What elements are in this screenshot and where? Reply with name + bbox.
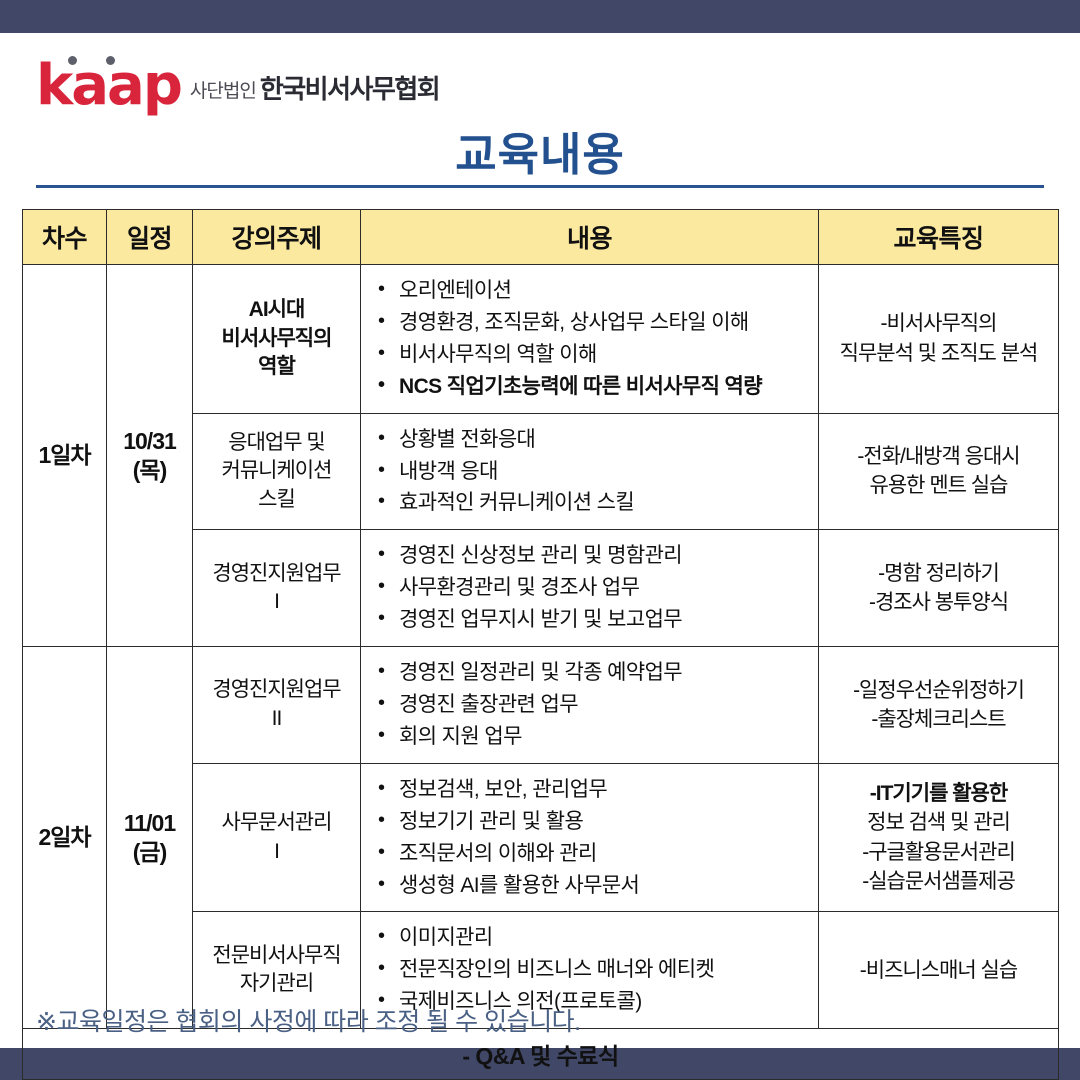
content-bullet-item: 정보기기 관리 및 활용 bbox=[397, 806, 812, 838]
content-bullet-item: 사무환경관리 및 경조사 업무 bbox=[397, 572, 812, 604]
cell-content: 상황별 전화응대내방객 응대효과적인 커뮤니케이션 스킬 bbox=[361, 413, 819, 530]
cell-content: 경영진 일정관리 및 각종 예약업무경영진 출장관련 업무회의 지원 업무 bbox=[361, 647, 819, 764]
cell-feature: -비즈니스매너 실습 bbox=[819, 912, 1059, 1029]
cell-topic: 응대업무 및커뮤니케이션스킬 bbox=[193, 413, 361, 530]
content-bullet-item: 정보검색, 보안, 관리업무 bbox=[397, 774, 812, 806]
content-bullet-item: 생성형 AI를 활용한 사무문서 bbox=[397, 870, 812, 902]
content-bullet-list: 경영진 일정관리 및 각종 예약업무경영진 출장관련 업무회의 지원 업무 bbox=[371, 657, 812, 753]
feature-line: -IT기기를 활용한 bbox=[823, 779, 1054, 808]
feature-line: -전화/내방객 응대시 bbox=[823, 442, 1054, 471]
feature-line: -비서사무직의 bbox=[823, 309, 1054, 338]
footnote-disclaimer: ※교육일정은 협회의 사정에 따라 조정 될 수 있습니다. bbox=[36, 1002, 581, 1038]
column-header-date: 일정 bbox=[107, 210, 193, 265]
feature-line: -경조사 봉투양식 bbox=[823, 588, 1054, 617]
feature-line: -구글활용문서관리 bbox=[823, 838, 1054, 867]
cell-date: 11/01(금) bbox=[107, 647, 193, 1029]
content-bullet-item: 오리엔테이션 bbox=[397, 275, 812, 307]
logo-prefix-label: 사단법인 bbox=[190, 76, 256, 103]
cell-feature: -비서사무직의직무분석 및 조직도 분석 bbox=[819, 265, 1059, 414]
page-title: 교육내용 bbox=[0, 118, 1080, 183]
column-header-feature: 교육특징 bbox=[819, 210, 1059, 265]
content-bullet-list: 오리엔테이션경영환경, 조직문화, 상사업무 스타일 이해비서사무직의 역할 이… bbox=[371, 275, 812, 403]
curriculum-table-wrapper: 차수 일정 강의주제 내용 교육특징 1일차10/31(목)AI시대비서사무직의… bbox=[22, 209, 1058, 1080]
content-bullet-item: NCS 직업기초능력에 따른 비서사무직 역량 bbox=[397, 371, 812, 403]
cell-content: 오리엔테이션경영환경, 조직문화, 상사업무 스타일 이해비서사무직의 역할 이… bbox=[361, 265, 819, 414]
slide-page: kaap 사단법인 한국비서사무협회 교육내용 차수 일정 강의주제 내용 교육… bbox=[0, 0, 1080, 1080]
cell-feature: -일정우선순위정하기-출장체크리스트 bbox=[819, 647, 1059, 764]
content-bullet-list: 상황별 전화응대내방객 응대효과적인 커뮤니케이션 스킬 bbox=[371, 424, 812, 520]
content-bullet-item: 내방객 응대 bbox=[397, 456, 812, 488]
table-header: 차수 일정 강의주제 내용 교육특징 bbox=[23, 210, 1059, 265]
feature-line: -비즈니스매너 실습 bbox=[823, 956, 1054, 985]
column-header-session: 차수 bbox=[23, 210, 107, 265]
content-bullet-item: 경영진 일정관리 및 각종 예약업무 bbox=[397, 657, 812, 689]
content-bullet-item: 비서사무직의 역할 이해 bbox=[397, 339, 812, 371]
top-accent-bar bbox=[0, 0, 1080, 33]
table-header-row: 차수 일정 강의주제 내용 교육특징 bbox=[23, 210, 1059, 265]
feature-line: -일정우선순위정하기 bbox=[823, 676, 1054, 705]
cell-date: 10/31(목) bbox=[107, 265, 193, 647]
table-body: 1일차10/31(목)AI시대비서사무직의역할오리엔테이션경영환경, 조직문화,… bbox=[23, 265, 1059, 1080]
content-bullet-item: 경영진 출장관련 업무 bbox=[397, 689, 812, 721]
content-bullet-item: 이미지관리 bbox=[397, 922, 812, 954]
content-bullet-item: 경영진 신상정보 관리 및 명함관리 bbox=[397, 540, 812, 572]
column-header-topic: 강의주제 bbox=[193, 210, 361, 265]
cell-topic: 경영진지원업무II bbox=[193, 647, 361, 764]
cell-feature: -명함 정리하기-경조사 봉투양식 bbox=[819, 530, 1059, 647]
content-bullet-item: 회의 지원 업무 bbox=[397, 721, 812, 753]
cell-topic: 경영진지원업무I bbox=[193, 530, 361, 647]
table-row: 2일차11/01(금)경영진지원업무II경영진 일정관리 및 각종 예약업무경영… bbox=[23, 647, 1059, 764]
feature-line: 정보 검색 및 관리 bbox=[823, 808, 1054, 837]
cell-content: 경영진 신상정보 관리 및 명함관리사무환경관리 및 경조사 업무경영진 업무지… bbox=[361, 530, 819, 647]
cell-session: 1일차 bbox=[23, 265, 107, 647]
feature-line: -실습문서샘플제공 bbox=[823, 867, 1054, 896]
logo-organization-name: 한국비서사무협회 bbox=[260, 69, 439, 106]
cell-topic: 사무문서관리I bbox=[193, 763, 361, 912]
cell-feature: -IT기기를 활용한정보 검색 및 관리-구글활용문서관리-실습문서샘플제공 bbox=[819, 763, 1059, 912]
table-row: 1일차10/31(목)AI시대비서사무직의역할오리엔테이션경영환경, 조직문화,… bbox=[23, 265, 1059, 414]
cell-content: 정보검색, 보안, 관리업무정보기기 관리 및 활용조직문서의 이해와 관리생성… bbox=[361, 763, 819, 912]
feature-line: 직무분석 및 조직도 분석 bbox=[823, 339, 1054, 368]
content-bullet-item: 조직문서의 이해와 관리 bbox=[397, 838, 812, 870]
cell-feature: -전화/내방객 응대시유용한 멘트 실습 bbox=[819, 413, 1059, 530]
title-divider bbox=[36, 185, 1044, 188]
association-logo: kaap 사단법인 한국비서사무협회 bbox=[36, 56, 439, 110]
cell-topic: AI시대비서사무직의역할 bbox=[193, 265, 361, 414]
logo-umlaut-dots-icon bbox=[68, 56, 130, 66]
column-header-content: 내용 bbox=[361, 210, 819, 265]
content-bullet-list: 정보검색, 보안, 관리업무정보기기 관리 및 활용조직문서의 이해와 관리생성… bbox=[371, 774, 812, 902]
feature-line: 유용한 멘트 실습 bbox=[823, 471, 1054, 500]
content-bullet-item: 전문직장인의 비즈니스 매너와 에티켓 bbox=[397, 954, 812, 986]
content-bullet-item: 상황별 전화응대 bbox=[397, 424, 812, 456]
content-bullet-item: 경영환경, 조직문화, 상사업무 스타일 이해 bbox=[397, 307, 812, 339]
content-bullet-item: 효과적인 커뮤니케이션 스킬 bbox=[397, 487, 812, 519]
feature-line: -명함 정리하기 bbox=[823, 559, 1054, 588]
content-bullet-item: 경영진 업무지시 받기 및 보고업무 bbox=[397, 604, 812, 636]
content-bullet-list: 경영진 신상정보 관리 및 명함관리사무환경관리 및 경조사 업무경영진 업무지… bbox=[371, 540, 812, 636]
cell-session: 2일차 bbox=[23, 647, 107, 1029]
logo-wordmark: kaap bbox=[36, 62, 181, 110]
feature-line: -출장체크리스트 bbox=[823, 705, 1054, 734]
curriculum-table: 차수 일정 강의주제 내용 교육특징 1일차10/31(목)AI시대비서사무직의… bbox=[22, 209, 1059, 1080]
